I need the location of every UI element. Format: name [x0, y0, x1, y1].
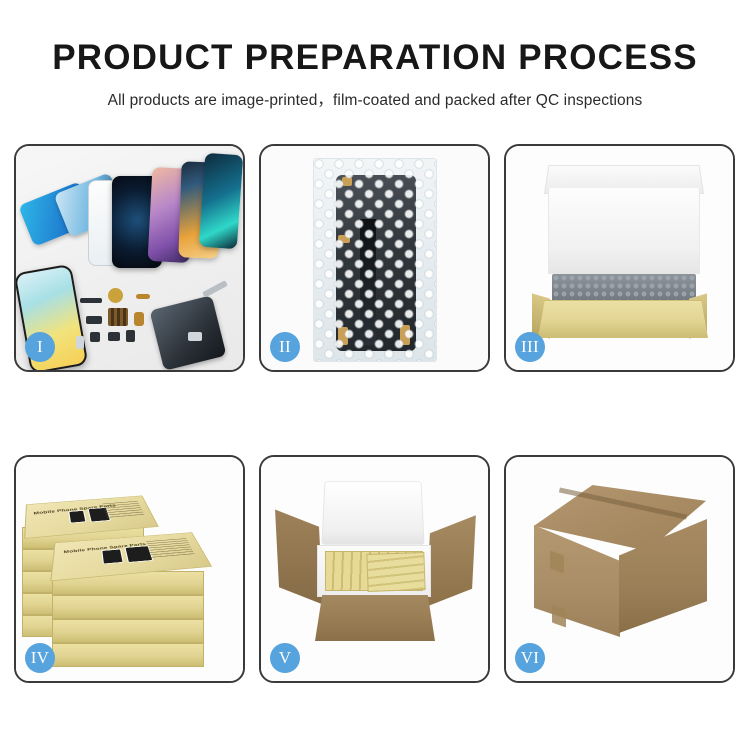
step-badge-3: III: [515, 332, 545, 362]
box-base-yellow: [538, 300, 708, 338]
box-stack: Mobile Phone Spare Parts Mobile Phone Sp…: [20, 475, 240, 671]
phone-teal-display: [199, 153, 243, 249]
step-badge-2: II: [270, 332, 300, 362]
steps-grid: I II: [14, 144, 736, 683]
step-panel-5: V: [259, 455, 490, 683]
step-panel-2: II: [259, 144, 490, 372]
component-button: [90, 332, 100, 342]
step-panel-3: III: [504, 144, 735, 372]
carton-tape-lower: [552, 604, 566, 627]
bubble-wrap-contents: [552, 274, 696, 304]
step-badge-6: VI: [515, 643, 545, 673]
stacked-box-front-4: [52, 643, 204, 667]
box-art-screen-1a: [68, 510, 86, 523]
box-inner-wall: [548, 188, 700, 274]
component-screw-set: [188, 332, 202, 341]
product-preparation-infographic: PRODUCT PREPARATION PROCESS All products…: [0, 0, 750, 750]
page-title: PRODUCT PREPARATION PROCESS: [0, 40, 750, 77]
step-badge-5: V: [270, 643, 300, 673]
yellow-boxes-row-2: [366, 552, 425, 592]
component-sim-tray: [76, 336, 84, 349]
box-spec-lines-1: [103, 501, 145, 519]
carton-flap-right: [426, 515, 476, 607]
component-camera: [108, 332, 120, 341]
page-subtitle: All products are image-printed，film-coat…: [0, 88, 750, 110]
bubble-texture: [314, 159, 436, 361]
stacked-box-front-3: [52, 619, 204, 643]
box-spec-lines-2: [146, 538, 196, 559]
header: PRODUCT PREPARATION PROCESS All products…: [0, 0, 750, 110]
carton-front-wall: [315, 595, 435, 641]
bubble-wrap-bag: [313, 158, 437, 362]
stacked-box-front-2: [52, 595, 204, 619]
step-panel-1: I: [14, 144, 245, 372]
step-badge-1: I: [25, 332, 55, 362]
carton-flap-left: [275, 510, 323, 605]
component-connector: [126, 330, 135, 342]
box-art-screen-2a: [102, 549, 124, 564]
step-badge-4: IV: [25, 643, 55, 673]
tool-tweezers: [202, 280, 228, 298]
component-speaker: [80, 298, 102, 303]
foam-cooler-lid: [321, 481, 424, 545]
step-panel-4: Mobile Phone Spare Parts Mobile Phone Sp…: [14, 455, 245, 683]
component-ic-array: [108, 308, 128, 326]
component-flex-cable-1: [136, 294, 150, 299]
component-gold-coil: [108, 288, 123, 303]
component-bracket: [86, 316, 102, 324]
step-panel-6: VI: [504, 455, 735, 683]
component-flex-cable-2: [134, 312, 144, 326]
